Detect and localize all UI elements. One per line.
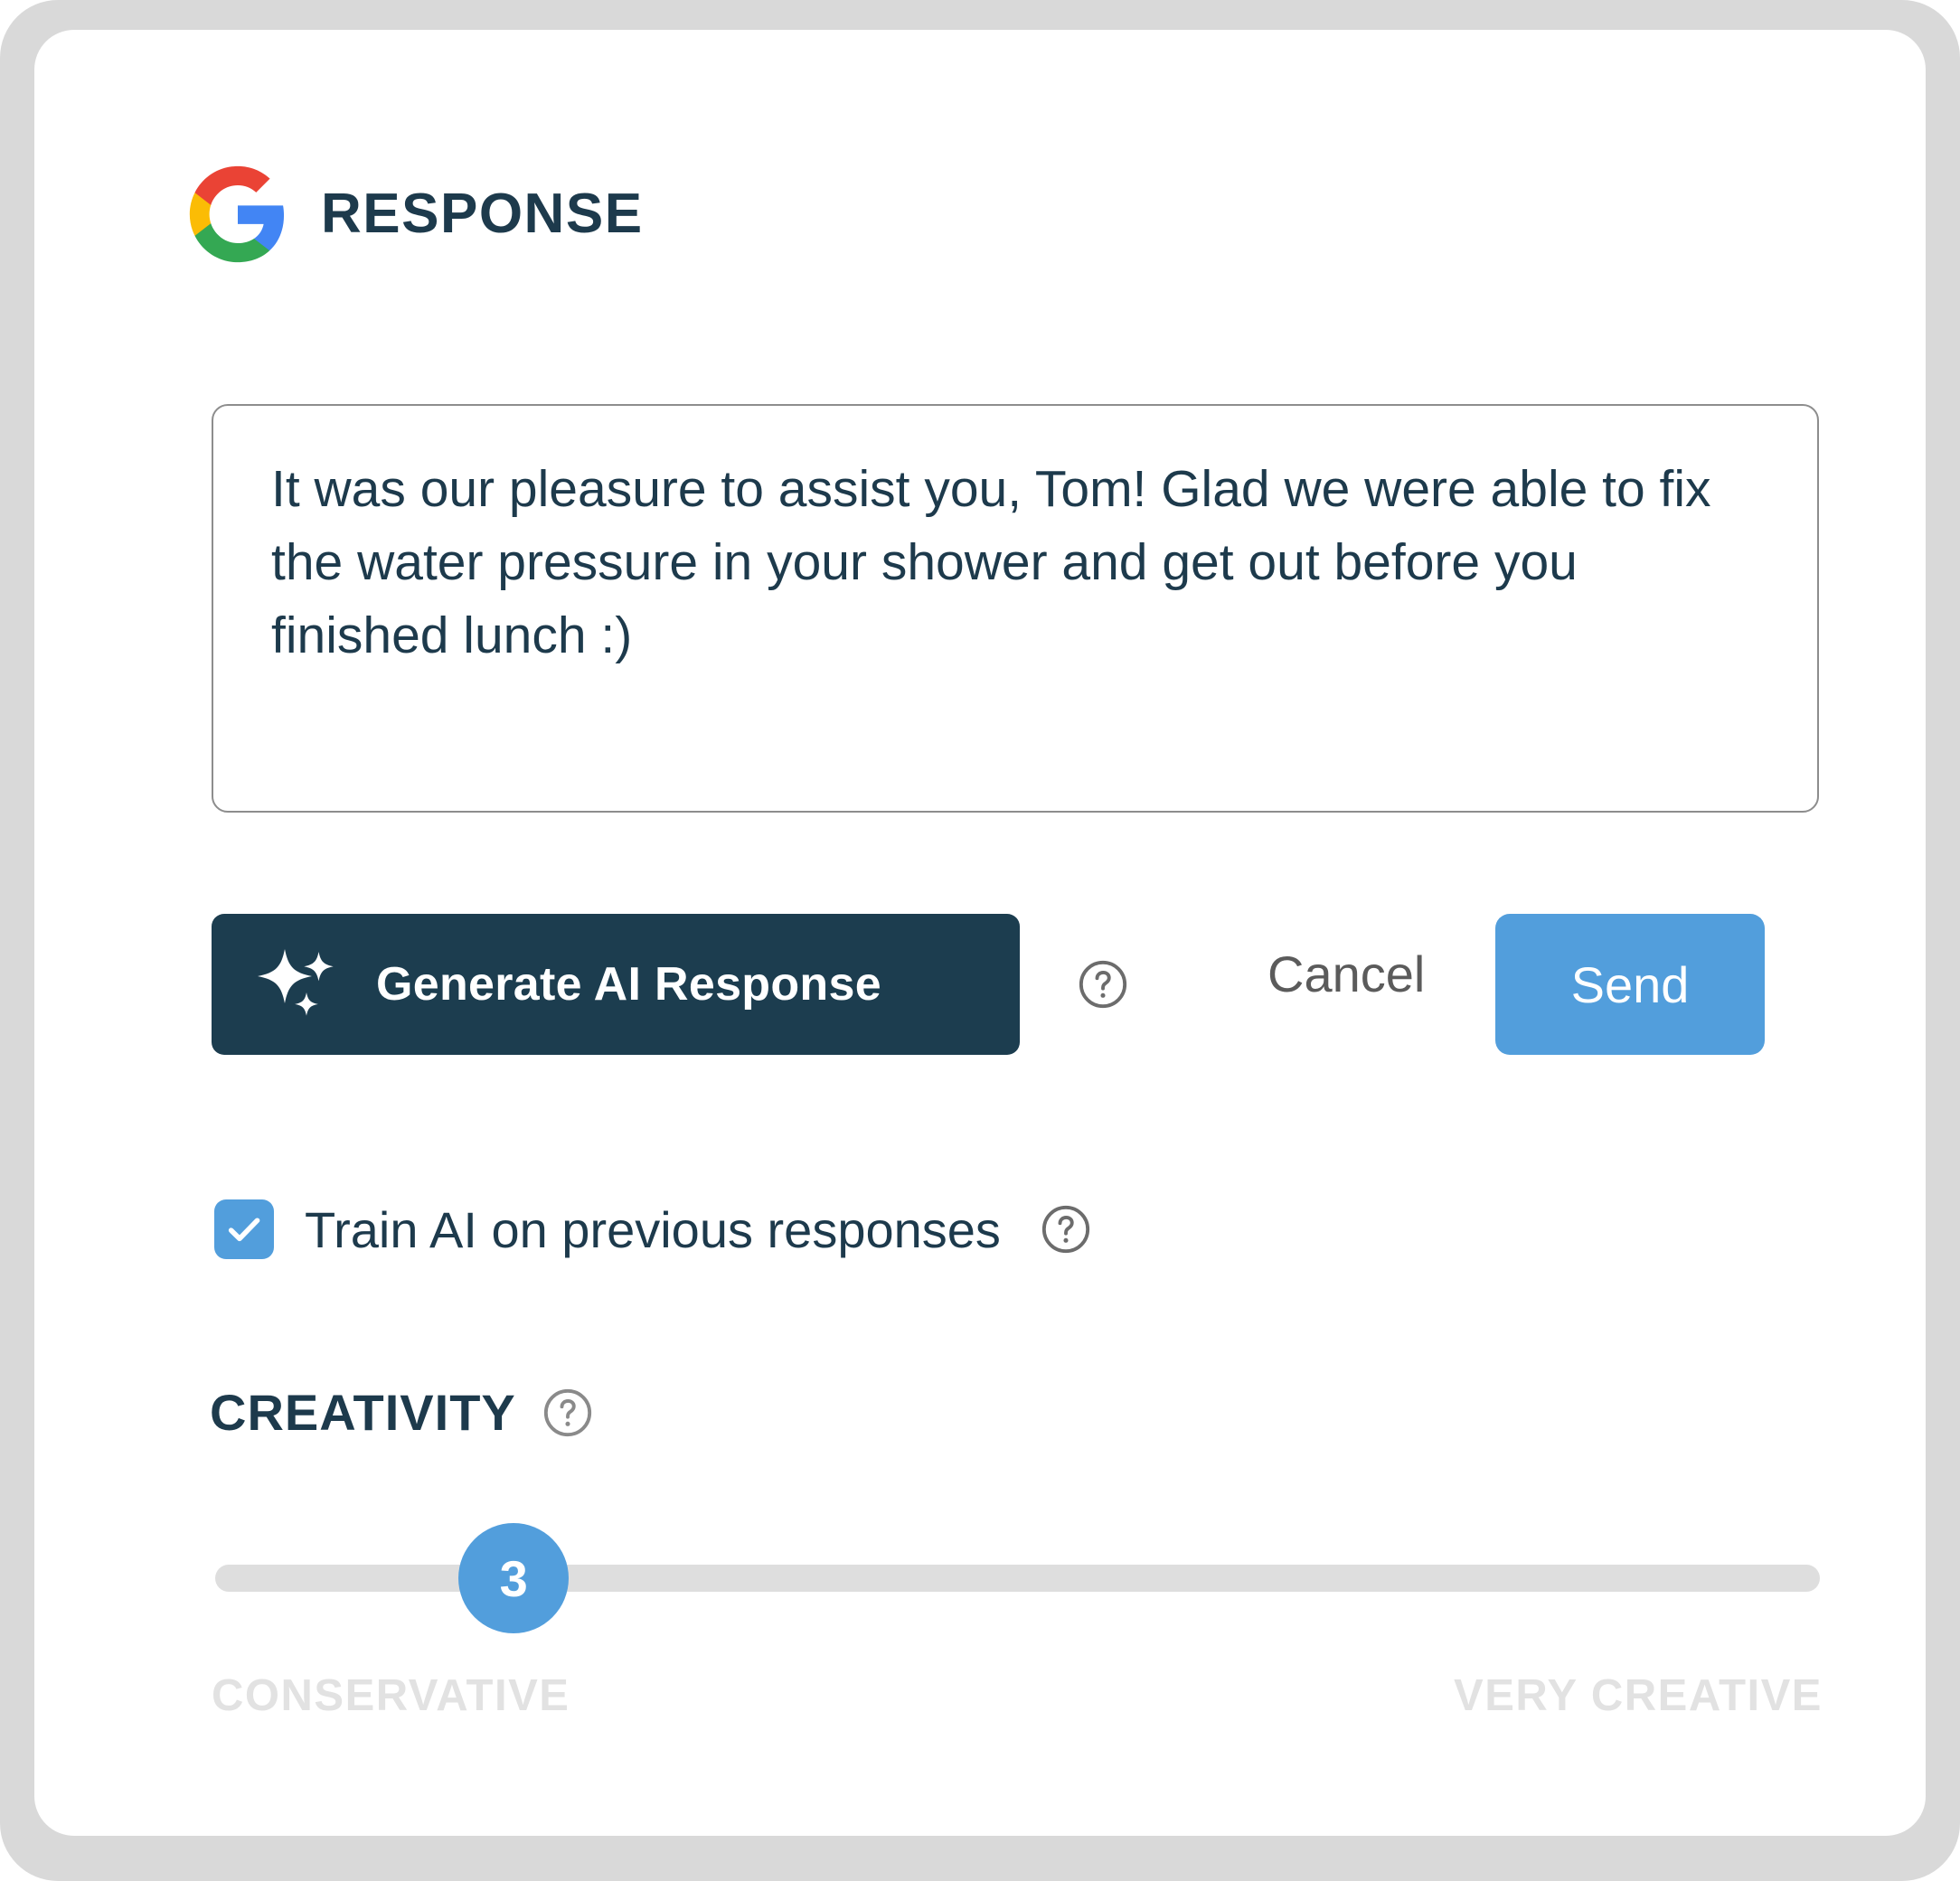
sparkles-icon: [255, 941, 342, 1028]
help-circle-icon[interactable]: [542, 1387, 594, 1439]
train-ai-checkbox[interactable]: [214, 1199, 274, 1259]
creativity-slider[interactable]: 3: [215, 1565, 1820, 1592]
slider-track[interactable]: [215, 1565, 1820, 1592]
train-ai-label: Train AI on previous responses: [305, 1200, 1001, 1259]
slider-max-label: VERY CREATIVE: [1454, 1670, 1823, 1721]
card-header: RESPONSE: [185, 162, 644, 267]
help-circle-icon[interactable]: [1040, 1203, 1092, 1256]
response-card: RESPONSE It was our pleasure to assist y…: [34, 30, 1926, 1836]
response-text-value: It was our pleasure to assist you, Tom! …: [271, 453, 1767, 672]
google-g-logo: [185, 162, 290, 267]
send-button[interactable]: Send: [1495, 914, 1765, 1055]
action-row: Generate AI Response Cancel Send: [212, 914, 1819, 1055]
page-title: RESPONSE: [321, 186, 644, 242]
response-textarea[interactable]: It was our pleasure to assist you, Tom! …: [212, 404, 1819, 813]
slider-thumb[interactable]: 3: [458, 1523, 569, 1633]
slider-labels: CONSERVATIVE VERY CREATIVE: [212, 1670, 1823, 1721]
slider-min-label: CONSERVATIVE: [212, 1670, 570, 1721]
help-circle-icon[interactable]: [1077, 958, 1129, 1011]
outer-frame: RESPONSE It was our pleasure to assist y…: [0, 0, 1960, 1881]
creativity-header: CREATIVITY: [210, 1383, 594, 1442]
cancel-button[interactable]: Cancel: [1262, 944, 1430, 1004]
generate-ai-response-label: Generate AI Response: [376, 957, 881, 1011]
train-ai-row: Train AI on previous responses: [214, 1199, 1092, 1259]
generate-ai-response-button[interactable]: Generate AI Response: [212, 914, 1020, 1055]
checkmark-icon: [223, 1209, 265, 1250]
creativity-title: CREATIVITY: [210, 1383, 516, 1442]
